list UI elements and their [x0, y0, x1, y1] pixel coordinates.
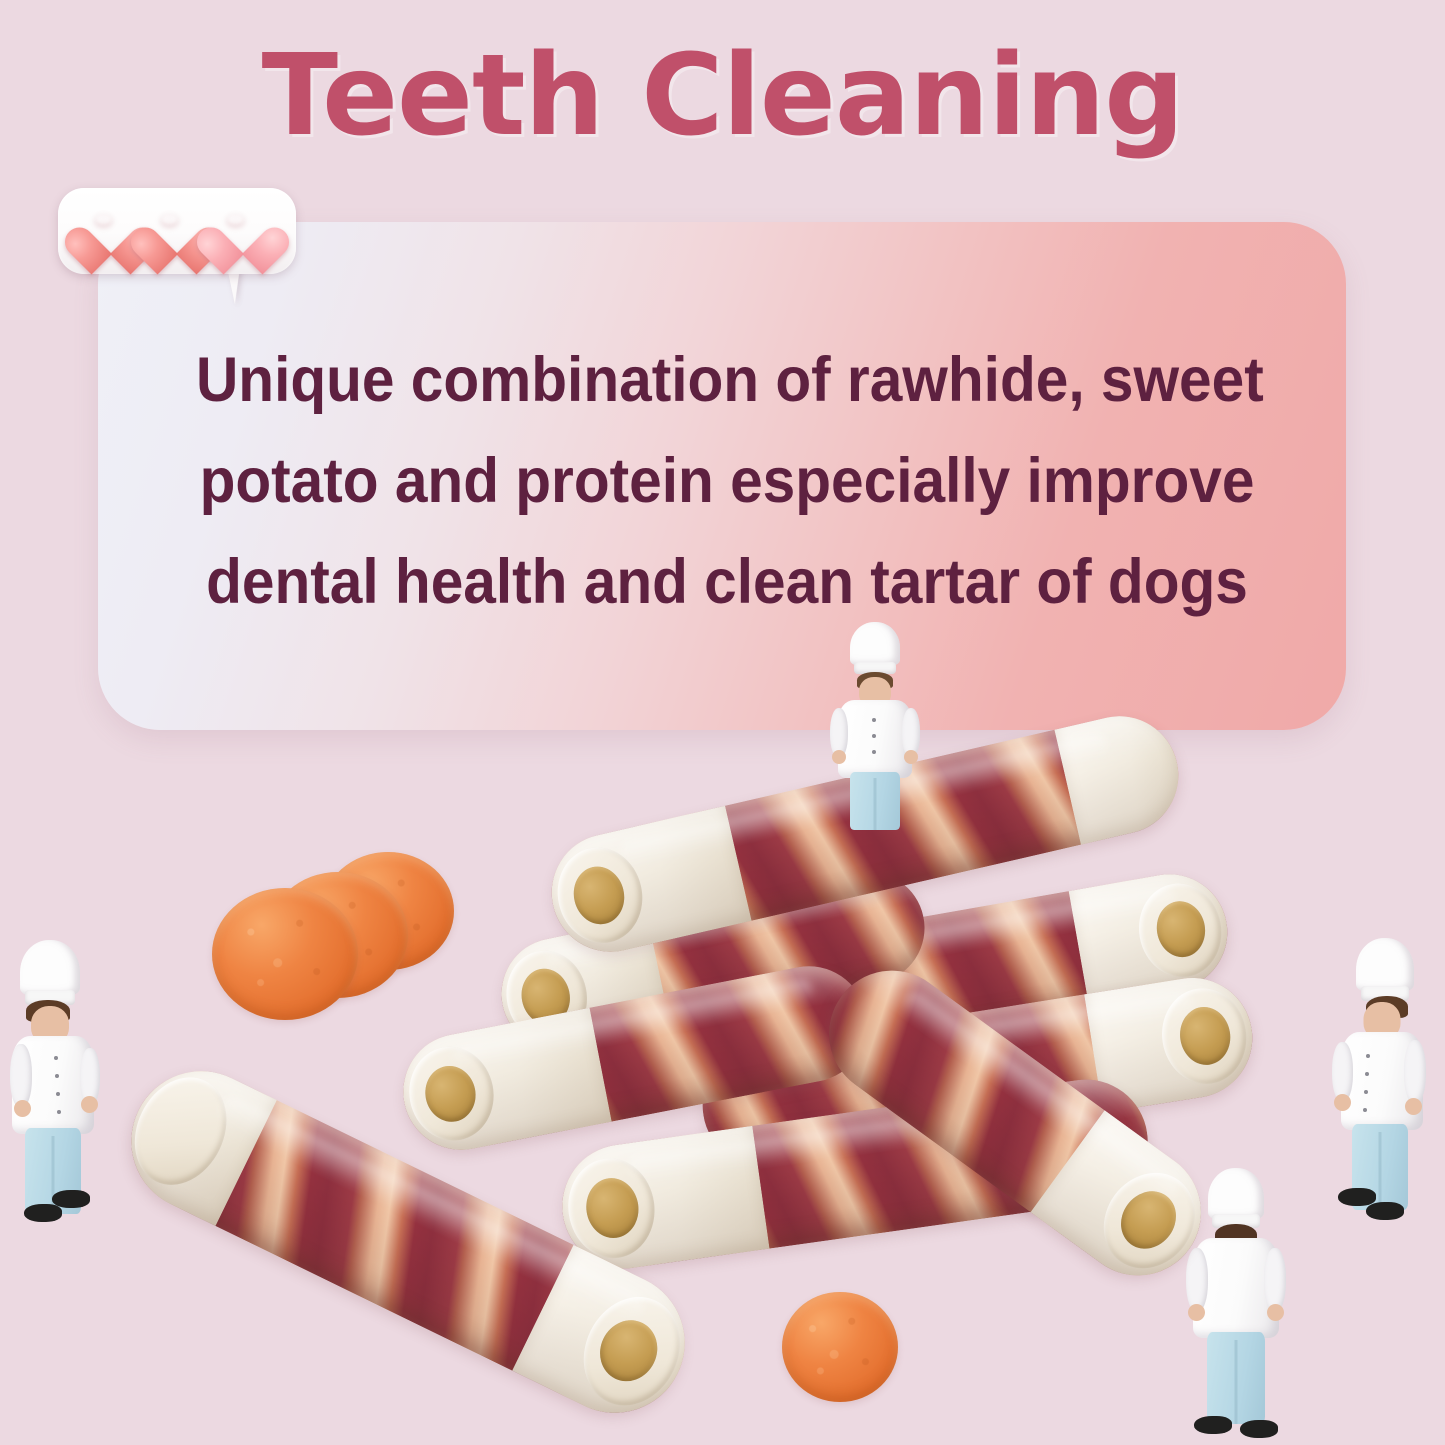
chef-figurine-top	[822, 622, 928, 827]
sweet-potato-slice	[782, 1292, 898, 1402]
chef-figurine-right	[1322, 938, 1434, 1226]
description-line-3: dental health and clean tartar of dogs	[196, 532, 1258, 633]
product-feature-banner: Teeth Cleaning Unique combination of raw…	[0, 0, 1445, 1445]
sweet-potato-slice	[212, 888, 358, 1020]
feature-description-text: Unique combination of rawhide, sweet pot…	[196, 330, 1258, 633]
chef-hat-icon	[20, 940, 80, 996]
chef-hat-icon	[1356, 938, 1414, 992]
chef-hat-icon	[850, 622, 900, 666]
heart-rating-speech-bubble	[58, 188, 296, 274]
heart-icon	[149, 205, 205, 257]
description-line-2: potato and protein especially improve	[196, 431, 1258, 532]
description-line-1: Unique combination of rawhide, sweet	[196, 330, 1258, 431]
heart-icon	[83, 205, 139, 257]
heart-icon	[215, 205, 271, 257]
page-title: Teeth Cleaning	[0, 38, 1445, 156]
chef-figurine-left	[2, 940, 112, 1230]
feature-description-card: Unique combination of rawhide, sweet pot…	[98, 222, 1346, 730]
